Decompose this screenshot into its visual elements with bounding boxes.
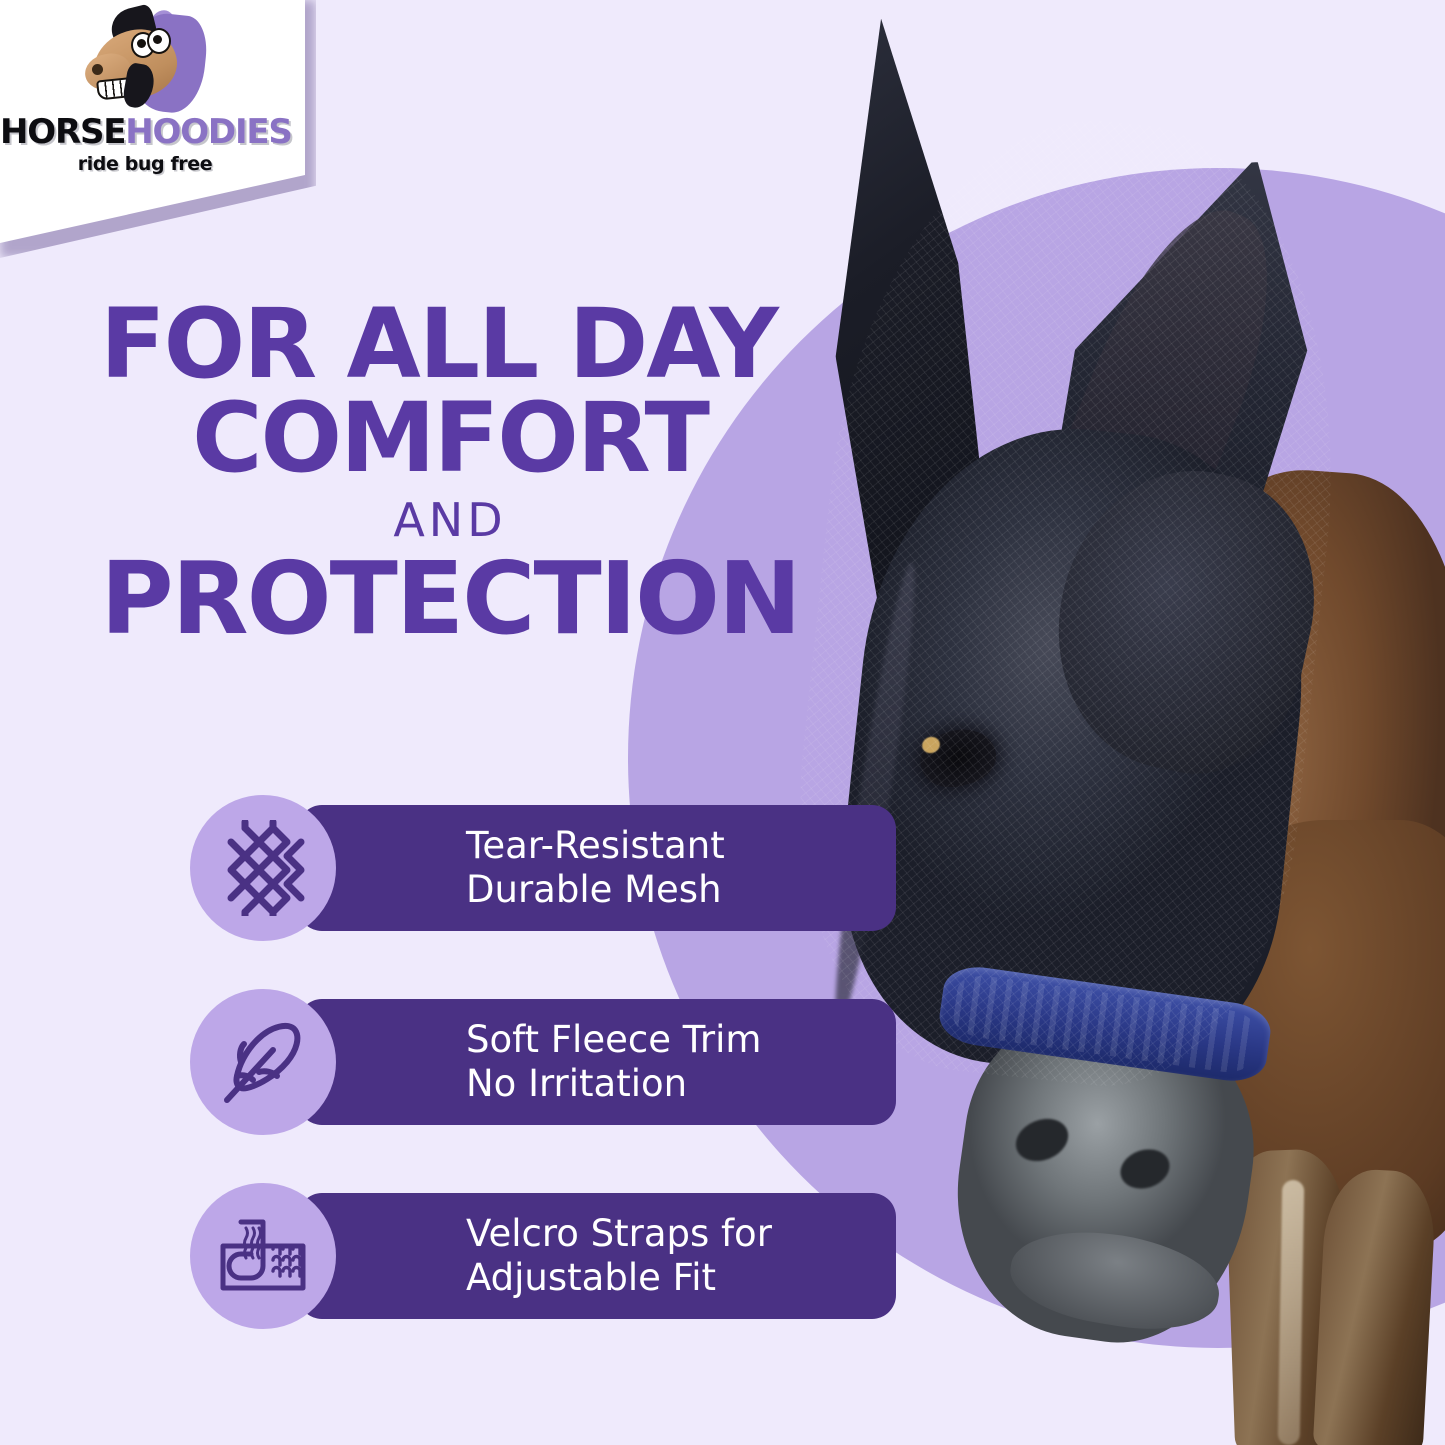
feature-pill: Velcro Straps for Adjustable Fit — [298, 1193, 896, 1319]
logo-wordmark: HORSEHOODIES — [0, 115, 290, 149]
donkey-leg-right — [1313, 1167, 1438, 1445]
headline-connector: AND — [100, 493, 800, 547]
feature-pill: Soft Fleece Trim No Irritation — [298, 999, 896, 1125]
horse-nostril — [92, 64, 103, 75]
headline-line-3: PROTECTION — [100, 553, 800, 645]
logo-word-hoodies: HOODIES — [125, 112, 291, 152]
feature-pill: Tear-Resistant Durable Mesh — [298, 805, 896, 931]
headline-line-2: COMFORT — [100, 394, 800, 482]
horse-hood-logo-icon — [75, 8, 215, 113]
headline-block: FOR ALL DAY COMFORT AND PROTECTION — [100, 300, 820, 645]
feature-label: Soft Fleece Trim No Irritation — [466, 1018, 761, 1107]
donkey-leg-highlight — [1278, 1180, 1305, 1445]
feature-label: Tear-Resistant Durable Mesh — [466, 824, 725, 913]
velcro-strap-icon — [190, 1183, 336, 1329]
logo-panel: HORSEHOODIES ride bug free — [0, 0, 305, 243]
mesh-lattice-icon — [190, 795, 336, 941]
feature-label: Velcro Straps for Adjustable Fit — [466, 1212, 772, 1301]
headline-line-1: FOR ALL DAY — [100, 300, 820, 388]
horse-pupil-right — [153, 35, 162, 44]
logo-tagline: ride bug free — [0, 153, 290, 175]
feather-icon — [190, 989, 336, 1135]
promo-banner: HORSEHOODIES ride bug free FOR ALL DAY C… — [0, 0, 1445, 1445]
logo-word-horse: HORSE — [0, 112, 125, 152]
horse-pupil-left — [137, 39, 146, 48]
